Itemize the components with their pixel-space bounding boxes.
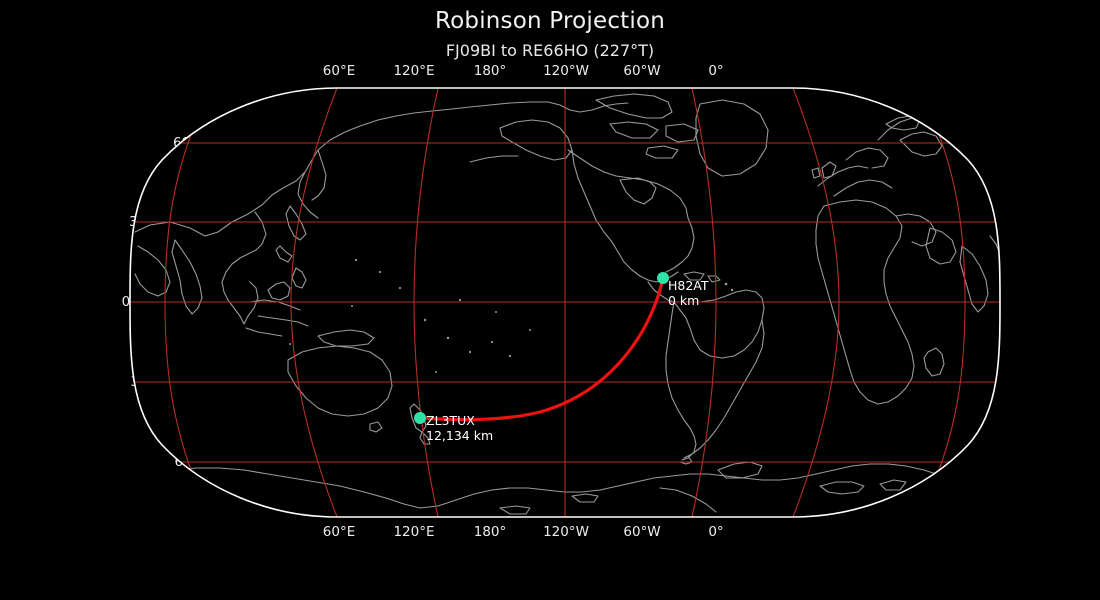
- route-label-origin: H82AT 0 km: [668, 278, 709, 308]
- route-label-origin-distance: 0 km: [668, 293, 709, 308]
- route-label-destination-call: ZL3TUX: [426, 413, 493, 428]
- route-marker-destination[interactable]: [414, 412, 426, 424]
- map-canvas: [0, 0, 1100, 600]
- route-label-destination: ZL3TUX 12,134 km: [426, 413, 493, 443]
- map-interior: [0, 0, 1100, 600]
- route-label-destination-distance: 12,134 km: [426, 428, 493, 443]
- route-label-origin-call: H82AT: [668, 278, 709, 293]
- map-figure: Robinson Projection FJ09BI to RE66HO (22…: [0, 0, 1100, 600]
